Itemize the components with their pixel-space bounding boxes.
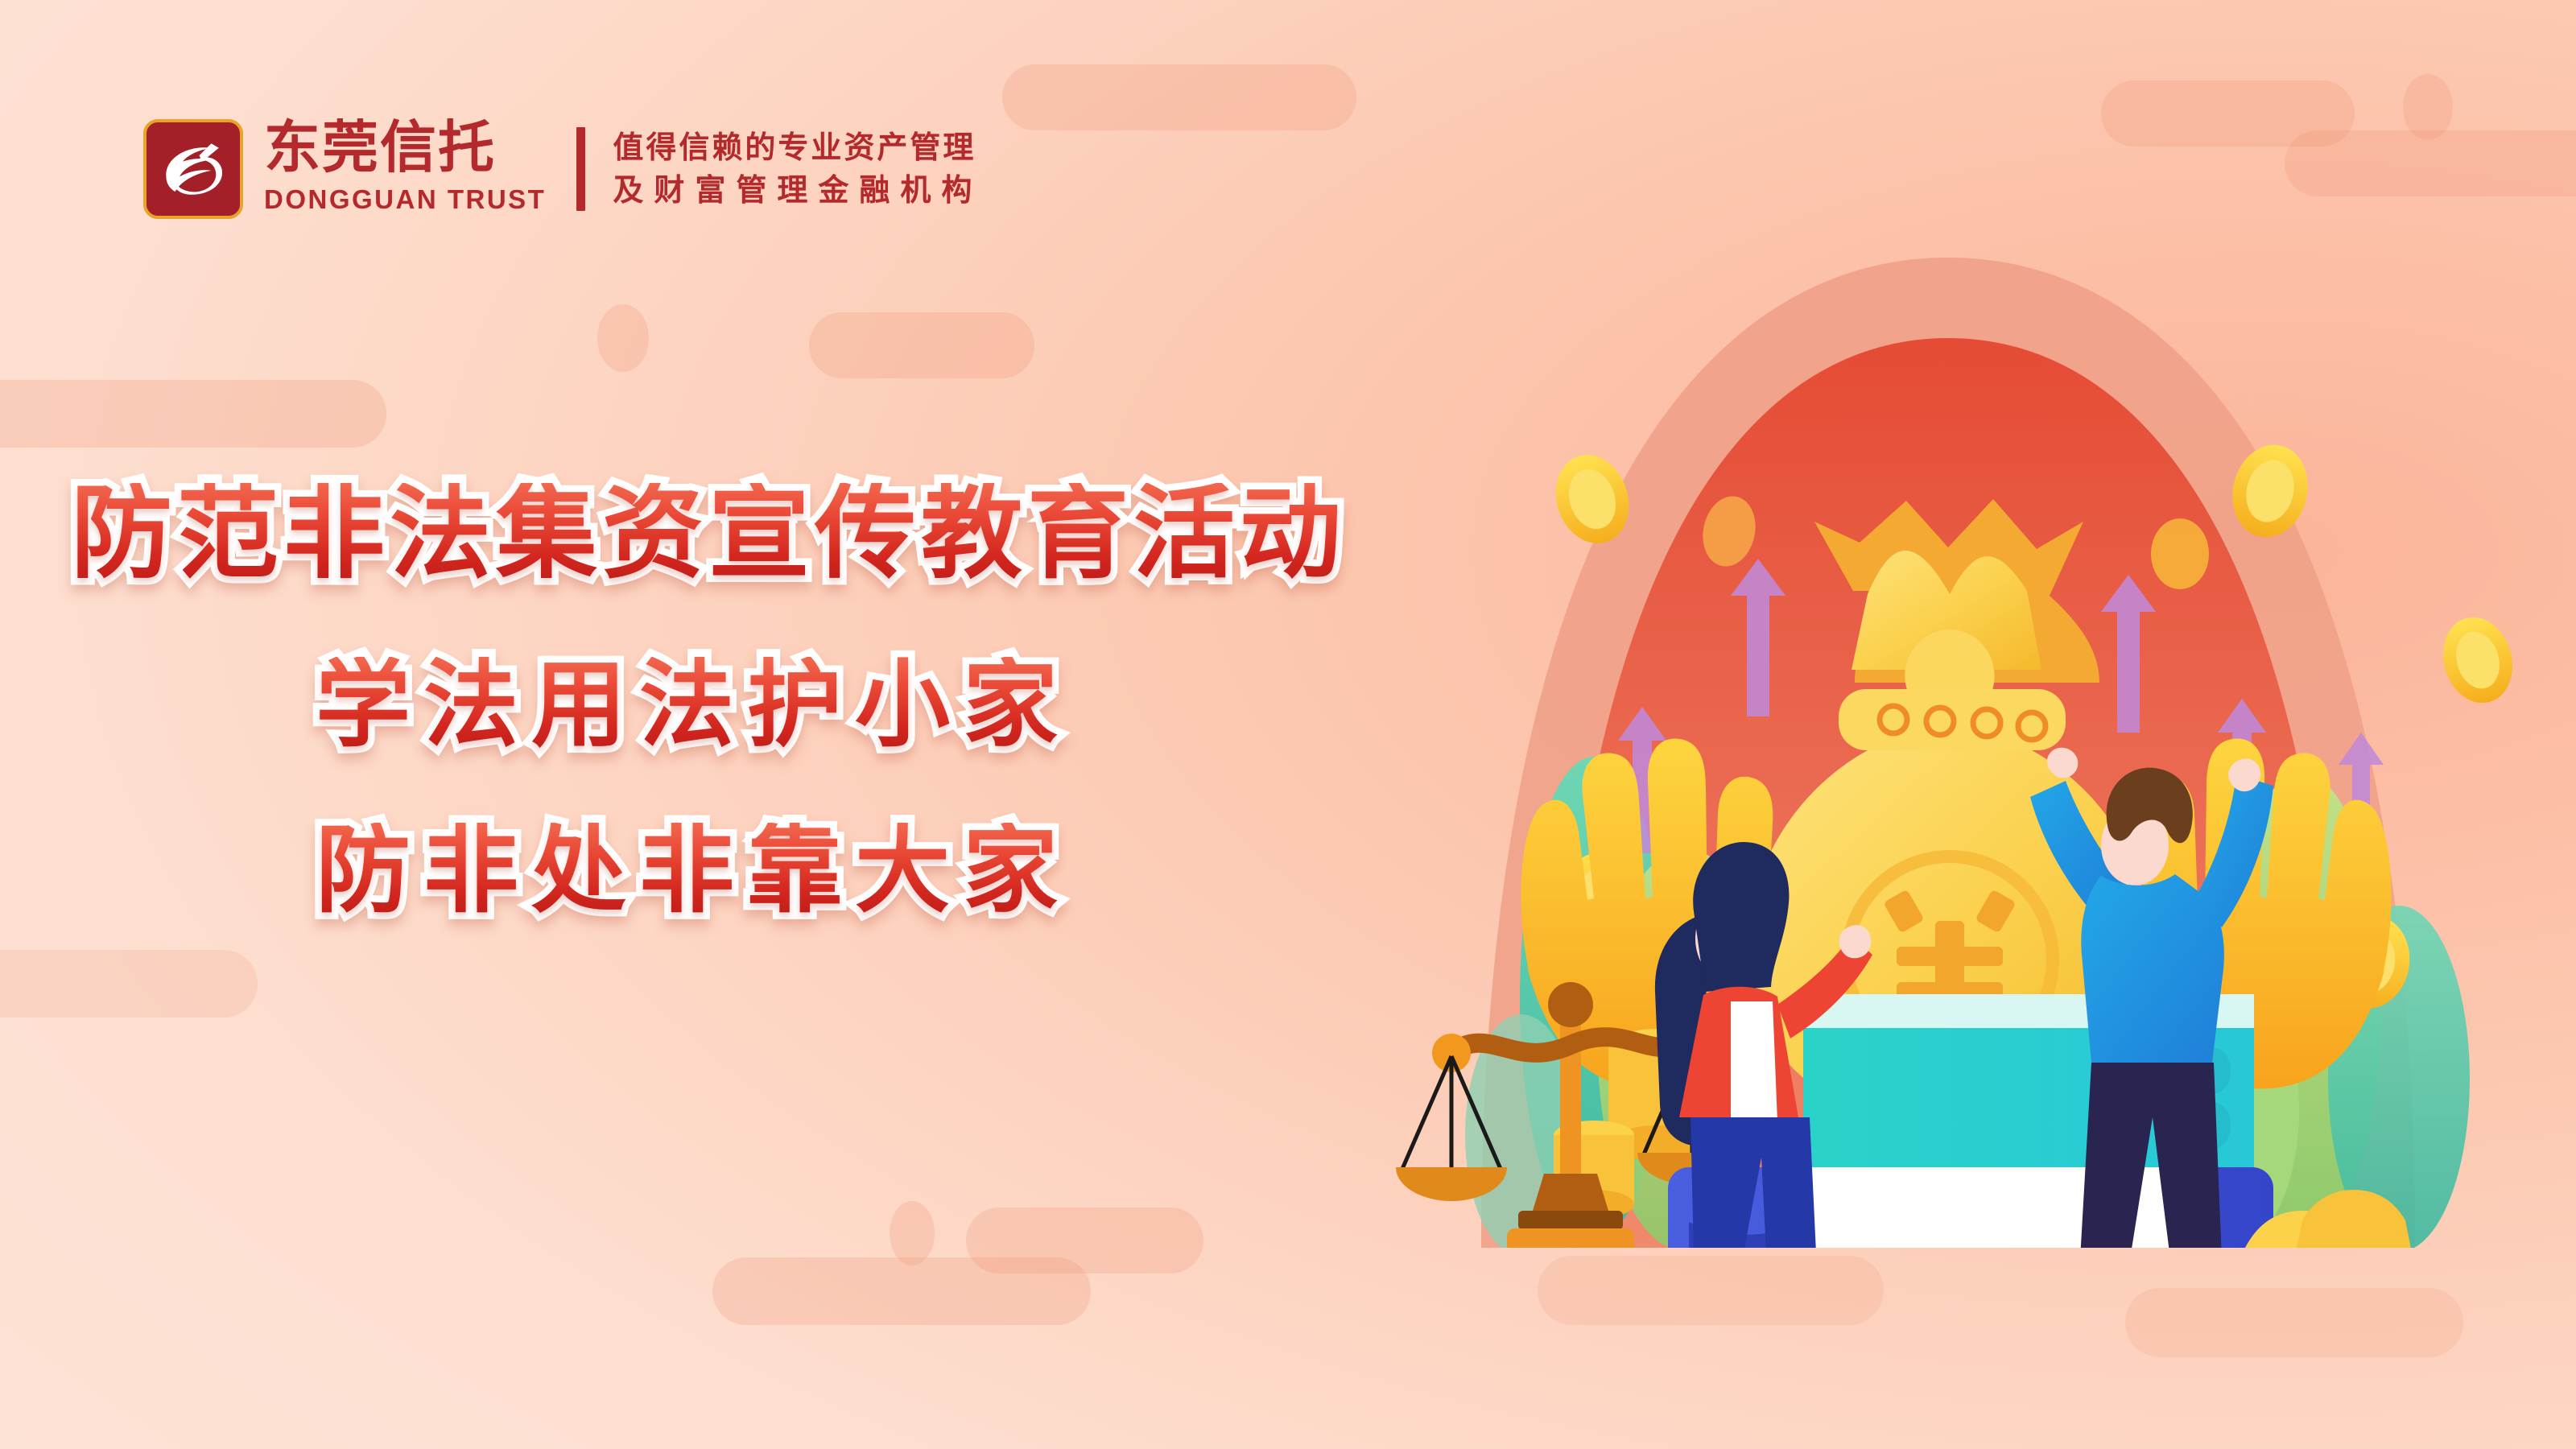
- dongguan-trust-emblem-icon: [143, 119, 243, 219]
- headline-line-2-text: 学法用法护小家: [316, 657, 1071, 752]
- headline-line-3-text: 防非处非靠大家: [316, 823, 1071, 918]
- deco-pill: [2125, 1288, 2463, 1357]
- headline-line-2-row: 学法用法护小家 学法用法护小家: [0, 657, 1385, 752]
- deco-pill: [1002, 64, 1356, 130]
- tagline-line-1: 值得信赖的专业资产管理: [613, 132, 982, 164]
- brand-wordmark: 东莞信托 DONGGUAN TRUST: [264, 119, 546, 220]
- brand-divider: [576, 127, 585, 211]
- headline-line-3: 防非处非靠大家 防非处非靠大家: [316, 823, 1385, 918]
- brand-name-cn: 东莞信托: [264, 119, 546, 176]
- brand-logo[interactable]: 东莞信托 DONGGUAN TRUST 值得信赖的专业资产管理 及财富管理金融机…: [143, 119, 982, 220]
- brand-tagline: 值得信赖的专业资产管理 及财富管理金融机构: [613, 132, 982, 208]
- deco-pill: [0, 380, 386, 448]
- headline-line-1: 防范非法集资宣传教育活动 防范非法集资宣传教育活动: [71, 483, 1385, 584]
- headline-line-2: 学法用法护小家 学法用法护小家: [316, 657, 1385, 752]
- promo-banner: 东莞信托 DONGGUAN TRUST 值得信赖的专业资产管理 及财富管理金融机…: [0, 0, 2576, 1449]
- headline-line-1-row: 防范非法集资宣传教育活动 防范非法集资宣传教育活动: [0, 483, 1385, 584]
- headline-group: 防范非法集资宣传教育活动 防范非法集资宣传教育活动 学法用法护小家 学法用法护小…: [0, 483, 1385, 918]
- deco-pill: [966, 1207, 1203, 1274]
- deco-dot: [597, 304, 649, 372]
- deco-dot: [890, 1201, 935, 1265]
- illustration-anti-illegal-fundraising: [1352, 97, 2544, 1248]
- headline-line-3-row: 防非处非靠大家 防非处非靠大家: [0, 823, 1385, 918]
- deco-pill: [1538, 1256, 1884, 1325]
- tagline-line-2: 及财富管理金融机构: [613, 175, 982, 207]
- headline-line-1-text: 防范非法集资宣传教育活动: [71, 483, 1346, 584]
- deco-pill: [809, 312, 1034, 378]
- deco-pill: [712, 1257, 1091, 1325]
- brand-name-en: DONGGUAN TRUST: [264, 180, 546, 220]
- deco-pill: [0, 950, 258, 1018]
